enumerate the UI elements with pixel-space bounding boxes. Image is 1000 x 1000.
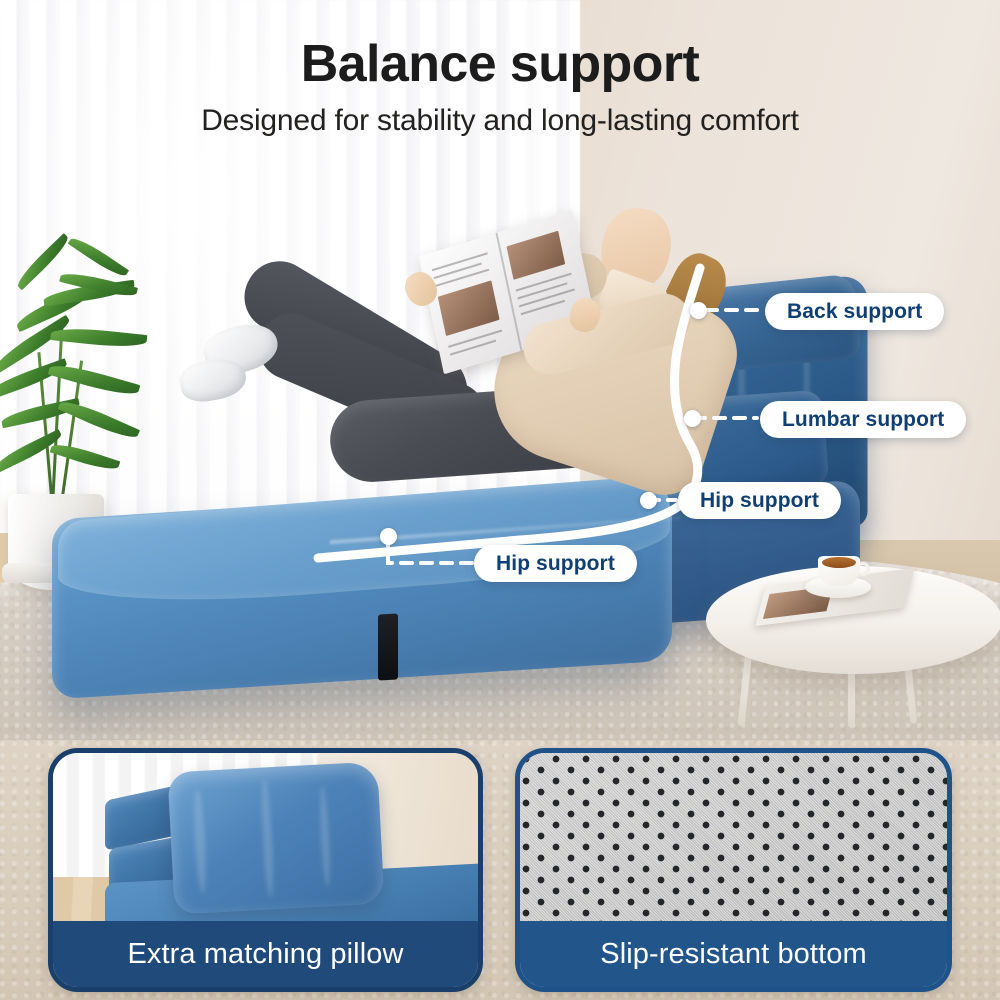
blue-pillow [167, 762, 384, 915]
product-feature-graphic: Back support Lumbar support Hip support … [0, 0, 1000, 1000]
coffee-liquid [822, 557, 856, 568]
feature-panels: Extra matching pillow Slip-resistant bot… [0, 740, 1000, 1000]
antislip-photo [520, 753, 947, 931]
page-subtitle: Designed for stability and long-lasting … [0, 104, 1000, 138]
panel-caption-antislip: Slip-resistant bottom [520, 921, 947, 987]
feature-panel-pillow[interactable]: Extra matching pillow [48, 748, 483, 992]
anti-slip-dotted-fabric [520, 753, 947, 931]
feature-panel-antislip[interactable]: Slip-resistant bottom [515, 748, 952, 992]
pillow-photo [53, 753, 478, 931]
woman-reading-magazine [170, 180, 750, 580]
side-fabric-strip [378, 613, 398, 680]
panel-caption-pillow: Extra matching pillow [53, 921, 478, 987]
page-title: Balance support [0, 34, 1000, 94]
